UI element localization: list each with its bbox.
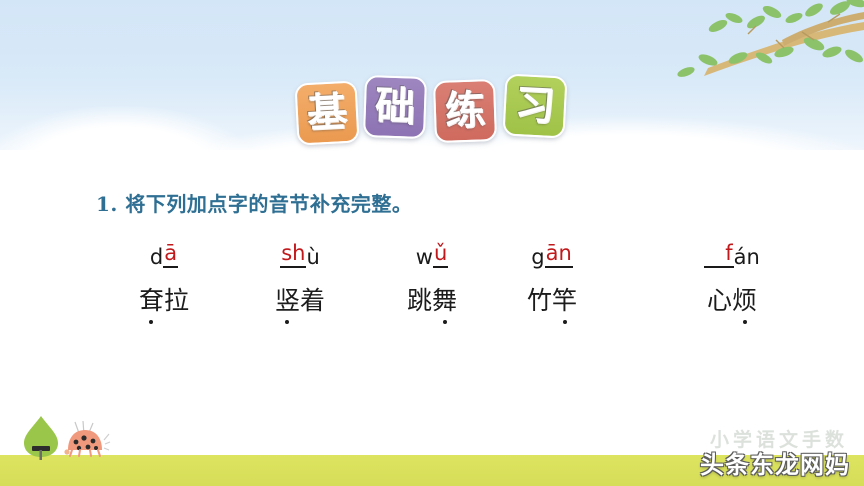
word-dotted-char-2: 竖 — [275, 286, 300, 315]
pinyin-answer-1: ā — [163, 243, 178, 268]
pinyin-prefix-3: w — [416, 247, 433, 268]
title-char-3: 练 — [444, 90, 485, 131]
exercise-item-5: fán 心烦 — [672, 238, 792, 313]
word-rest-3: 跳 — [407, 286, 432, 315]
title-tile-2: 础 — [363, 75, 427, 139]
word-dotted-char-1: 耷 — [139, 286, 164, 315]
word-rest-1: 拉 — [164, 286, 189, 315]
title-char-2: 础 — [374, 86, 415, 127]
pinyin-1[interactable]: dā — [104, 238, 224, 268]
word-2: 竖着 — [240, 288, 360, 313]
question-text: 1. 将下列加点字的音节补充完整。 — [96, 188, 412, 217]
title-tile-4: 习 — [502, 73, 567, 138]
title-tile-3: 练 — [433, 79, 497, 143]
pinyin-prefix-4: g — [531, 247, 544, 268]
exercise-item-4: gān 竹竿 — [492, 238, 612, 313]
main-watermark: 头条东龙网妈 — [700, 445, 850, 480]
pinyin-suffix-5: án — [734, 247, 760, 268]
title-char-1: 基 — [306, 92, 348, 134]
exercise-item-1: dā 耷拉 — [104, 238, 224, 313]
ladybug-icon — [62, 420, 112, 460]
word-1: 耷拉 — [104, 288, 224, 313]
pinyin-suffix-2: ù — [306, 247, 319, 268]
word-rest-4: 竹 — [527, 286, 552, 315]
word-3: 跳舞 — [372, 288, 492, 313]
word-dotted-char-3: 舞 — [432, 286, 457, 315]
pinyin-2[interactable]: shù — [240, 238, 360, 268]
slide-canvas: 基 础 练 习 1. 将下列加点字的音节补充完整。 dā 耷拉 shù — [0, 0, 864, 486]
pinyin-3[interactable]: wǔ — [372, 238, 492, 268]
pinyin-answer-2: sh — [280, 243, 306, 268]
word-dotted-char-5: 烦 — [732, 286, 757, 315]
pinyin-4[interactable]: gān — [492, 238, 612, 268]
word-dotted-char-4: 竿 — [552, 286, 577, 315]
word-rest-5: 心 — [707, 286, 732, 315]
word-rest-2: 着 — [300, 286, 325, 315]
bush-icon — [18, 414, 64, 462]
pinyin-blank-5 — [704, 252, 724, 268]
tree-branch-icon — [664, 0, 864, 88]
lesson-title: 基 础 练 习 — [296, 72, 576, 156]
title-char-4: 习 — [514, 85, 556, 127]
title-tile-1: 基 — [294, 80, 359, 145]
word-4: 竹竿 — [492, 288, 612, 313]
word-5: 心烦 — [672, 288, 792, 313]
exercise-list: dā 耷拉 shù 竖着 wǔ 跳舞 gān — [0, 238, 864, 338]
exercise-item-2: shù 竖着 — [240, 238, 360, 313]
pinyin-5[interactable]: fán — [672, 238, 792, 268]
pinyin-prefix-1: d — [150, 247, 163, 268]
exercise-item-3: wǔ 跳舞 — [372, 238, 492, 313]
pinyin-answer-4: ān — [545, 243, 573, 268]
pinyin-answer-5: f — [724, 243, 733, 268]
pinyin-answer-3: ǔ — [433, 243, 448, 268]
